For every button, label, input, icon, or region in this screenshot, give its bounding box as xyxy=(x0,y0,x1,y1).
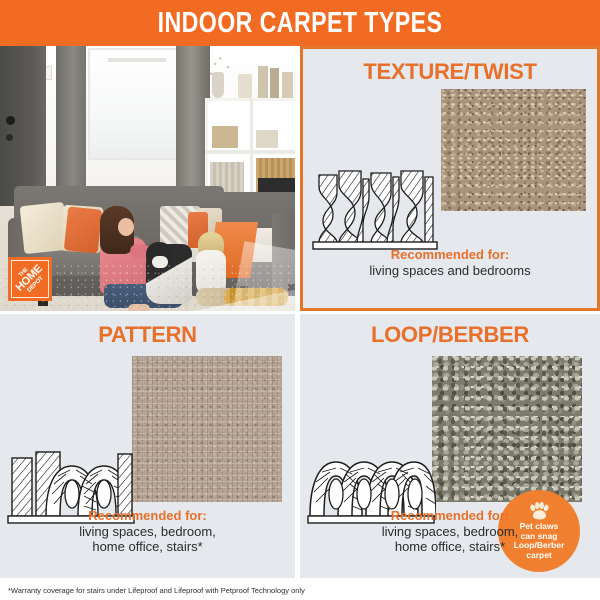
photo-window-bar xyxy=(108,58,166,62)
photo-throw-pillow-orange xyxy=(64,206,102,253)
photo-shelf-divider xyxy=(250,98,253,206)
panel-title-pattern: PATTERN xyxy=(0,322,295,348)
panel-title-texture-twist: TEXTURE/TWIST xyxy=(303,59,597,85)
home-depot-logo: THE HOME DEPOT xyxy=(8,257,52,301)
recommended-heading: Recommended for: xyxy=(0,508,295,523)
photo-door-lock xyxy=(6,134,13,141)
loop-berber-carpet-swatch xyxy=(432,356,582,502)
photo-curtain-left xyxy=(56,46,86,198)
recommended-heading: Recommended for: xyxy=(300,508,600,523)
photo-window xyxy=(88,48,186,160)
room-photo: THE HOME DEPOT xyxy=(0,46,295,311)
texture-twist-fiber-diagram xyxy=(311,157,441,253)
panel-hero-room-photo: THE HOME DEPOT xyxy=(0,46,295,311)
recommended-line: living spaces, bedroom, xyxy=(300,524,600,539)
photo-jar xyxy=(270,68,279,98)
photo-shelf-box xyxy=(212,126,238,148)
recommended-line: home office, stairs* xyxy=(0,539,295,554)
photo-door-left xyxy=(0,46,46,206)
panel-texture-twist: TEXTURE/TWIST Recommended for: xyxy=(300,46,600,311)
panel-title-loop-berber: LOOP/BERBER xyxy=(300,322,600,348)
texture-twist-carpet-swatch xyxy=(441,89,586,211)
carpet-types-grid: THE HOME DEPOT TEXTURE/TWIST xyxy=(0,46,600,578)
photo-shelf-box xyxy=(256,130,278,148)
photo-jar xyxy=(258,66,268,98)
panel-pattern: PATTERN xyxy=(0,314,295,578)
photo-vase xyxy=(212,72,224,98)
footnote-bar: *Warranty coverage for stairs under Life… xyxy=(0,580,600,600)
recommended-line: home office, stairs* xyxy=(300,539,600,554)
panel-loop-berber: LOOP/BERBER xyxy=(300,314,600,578)
recommended-line: living spaces and bedrooms xyxy=(303,263,597,278)
photo-jar xyxy=(238,74,252,98)
recommended-block-pattern: Recommended for: living spaces, bedroom,… xyxy=(0,508,295,554)
footnote-text: *Warranty coverage for stairs under Life… xyxy=(0,586,305,595)
page-title: INDOOR CARPET TYPES xyxy=(158,7,443,40)
recommended-line: living spaces, bedroom, xyxy=(0,524,295,539)
recommended-heading: Recommended for: xyxy=(303,247,597,262)
photo-door-knob xyxy=(6,116,15,125)
photo-jar xyxy=(282,72,293,98)
recommended-block-loop-berber: Recommended for: living spaces, bedroom,… xyxy=(300,508,600,554)
page-header: INDOOR CARPET TYPES xyxy=(0,0,600,46)
pattern-carpet-swatch xyxy=(132,356,282,502)
recommended-block-texture-twist: Recommended for: living spaces and bedro… xyxy=(303,247,597,278)
photo-woman-face xyxy=(118,218,134,236)
